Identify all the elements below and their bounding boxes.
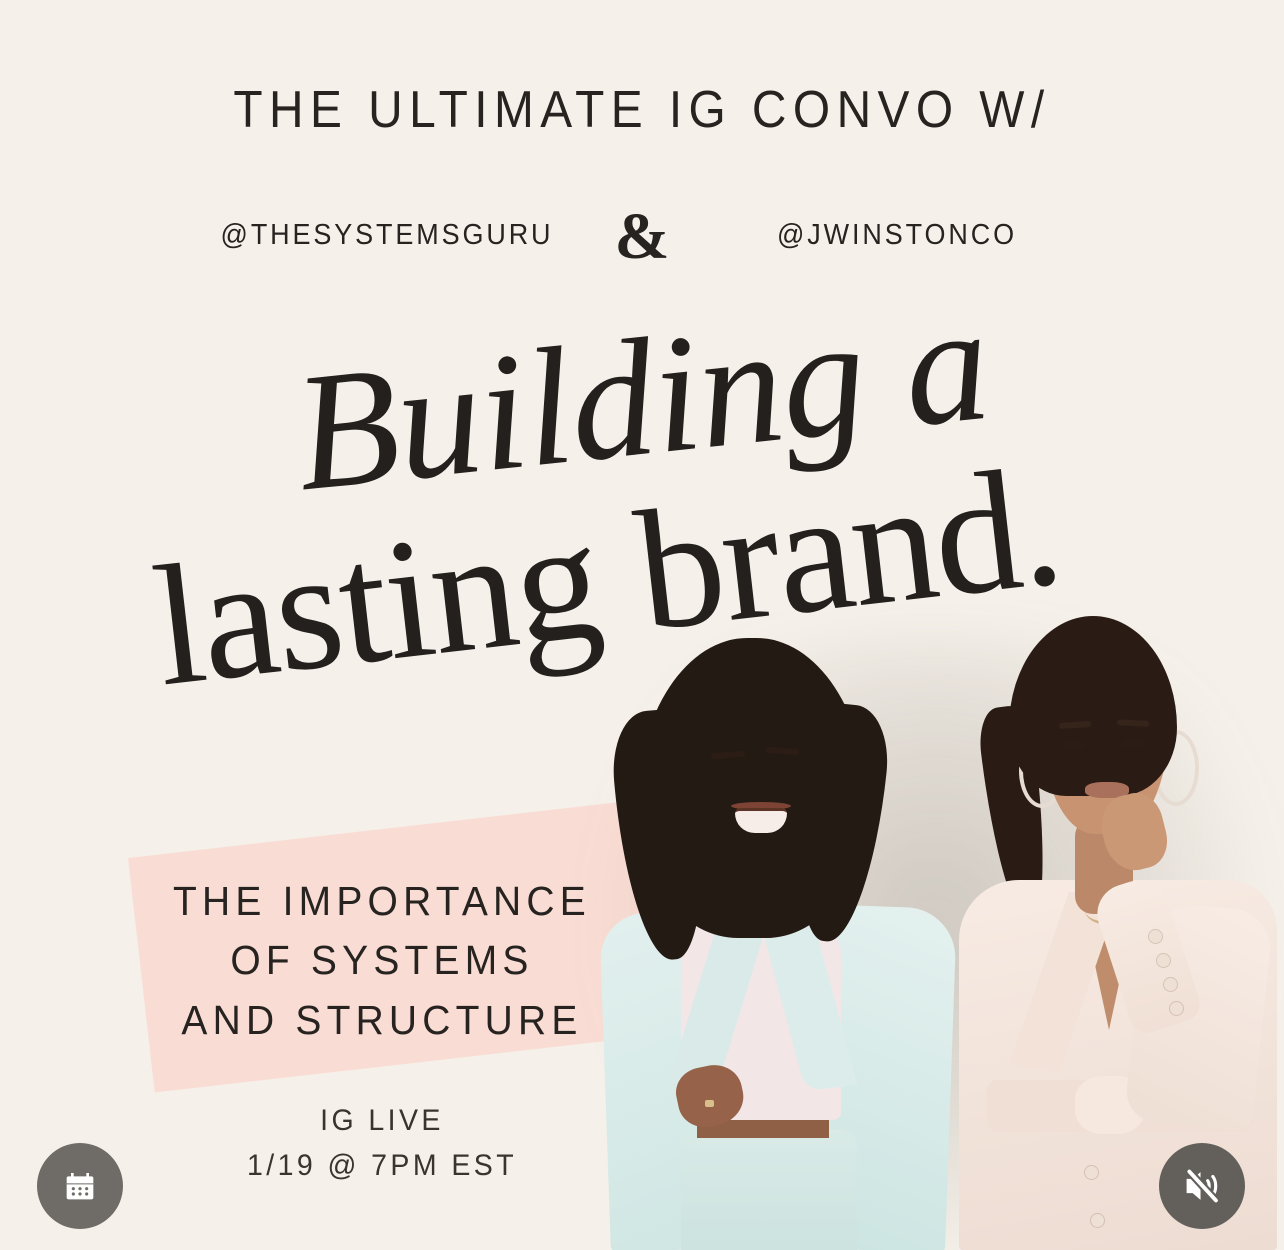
event-type: IG LIVE [107,1098,658,1143]
speaker-muted-icon [1180,1164,1224,1208]
person-left-pants [681,1130,857,1250]
person-right-eye-right [1121,738,1145,748]
person-left-ring [705,1100,714,1107]
subtitle-line-3: AND STRUCTURE [97,991,667,1050]
page-title: THE ULTIMATE IG CONVO W/ [51,80,1232,140]
handles-row: @THESYSTEMSGURU & @JWINSTONCO [0,212,1284,258]
calendar-icon [60,1166,100,1206]
person-right-hair [1009,616,1177,796]
person-right-button-6 [1091,1214,1104,1227]
subtitle-line-2: OF SYSTEMS [97,931,667,990]
event-details: IG LIVE 1/19 @ 7PM EST [107,1098,658,1188]
person-right-button-2 [1157,954,1170,967]
person-left-eye-right [769,767,795,778]
person-left-eye-left [715,770,741,781]
event-datetime: 1/19 @ 7PM EST [107,1143,658,1188]
subtitle-line-1: THE IMPORTANCE [97,872,667,931]
promo-poster: THE ULTIMATE IG CONVO W/ @THESYSTEMSGURU… [0,0,1284,1250]
person-left-hair [637,638,867,938]
mute-button[interactable] [1159,1143,1245,1229]
handle-left: @THESYSTEMSGURU [192,219,583,252]
handle-right: @JWINSTONCO [702,219,1093,252]
person-right-eye-left [1063,740,1087,750]
person-right-button-4 [1170,1002,1183,1015]
subtitle-block: THE IMPORTANCE OF SYSTEMS AND STRUCTURE [97,872,667,1050]
title-highlighted-word: lasting [145,483,608,722]
ampersand-separator: & [597,214,687,260]
person-right-button-3 [1164,978,1177,991]
person-right-button-1 [1149,930,1162,943]
calendar-button[interactable] [37,1143,123,1229]
person-right-button-5 [1085,1166,1098,1179]
